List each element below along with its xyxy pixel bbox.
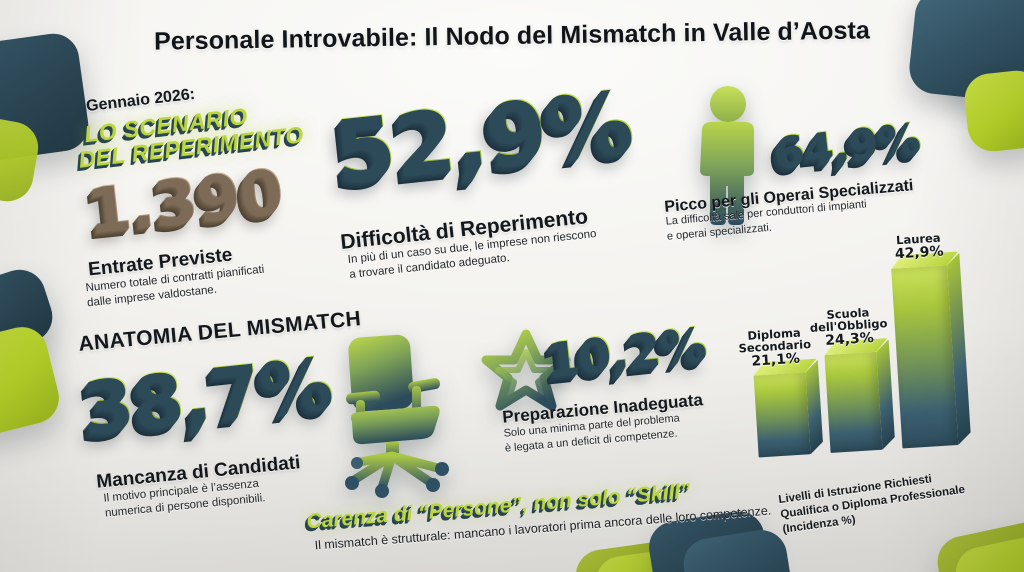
bar-group-scuola-obbligo xyxy=(824,352,882,453)
decor-shape-left-lime xyxy=(0,322,64,441)
stat-mancanza-candidati: 38,7% xyxy=(81,349,336,441)
stat-operai-specializzati: 64,9% xyxy=(774,118,923,172)
bar-scuola-obbligo xyxy=(824,352,882,453)
stat-value-38-7: 38,7% xyxy=(81,349,336,441)
bar-value-label: 42,9% xyxy=(894,243,943,262)
stat-value-64-9: 64,9% xyxy=(774,118,923,172)
bar-diploma-secondario xyxy=(754,372,811,457)
stat-value-10-2: 10,2% xyxy=(546,322,709,381)
stat-preparazione-inadeguata: 10,2% xyxy=(546,322,709,381)
bar-label-laurea: Laurea 42,9% xyxy=(879,231,959,263)
office-chair-icon xyxy=(330,330,480,498)
bar-label-diploma-secondario: Diploma Secondario 21,1% xyxy=(735,326,815,371)
stat-difficolta-reperimento: 52,9% xyxy=(333,83,638,193)
stat-entrate-previste: 1.390 xyxy=(86,162,287,239)
bar-value-label: 24,3% xyxy=(825,330,874,349)
bar-group-diploma-secondario xyxy=(754,372,811,457)
page-title: Personale Introvabile: Il Nodo del Misma… xyxy=(0,14,1024,59)
stat-value-1390: 1.390 xyxy=(86,162,287,239)
bar-label-scuola-obbligo: Scuola dell'Obbligo 24,3% xyxy=(806,305,892,350)
decor-shape-top-right-lime-2 xyxy=(962,68,1024,154)
bar-value-label: 21,1% xyxy=(751,351,800,370)
chart-caption: Livelli di Istruzione Richiesti Qualific… xyxy=(778,468,968,538)
education-levels-bar-chart: Diploma Secondario 21,1% Scuola dell'Obb… xyxy=(736,240,1014,516)
bar-group-laurea xyxy=(891,265,958,448)
stat-value-52-9: 52,9% xyxy=(333,83,638,193)
infographic-canvas: Personale Introvabile: Il Nodo del Misma… xyxy=(0,0,1024,572)
